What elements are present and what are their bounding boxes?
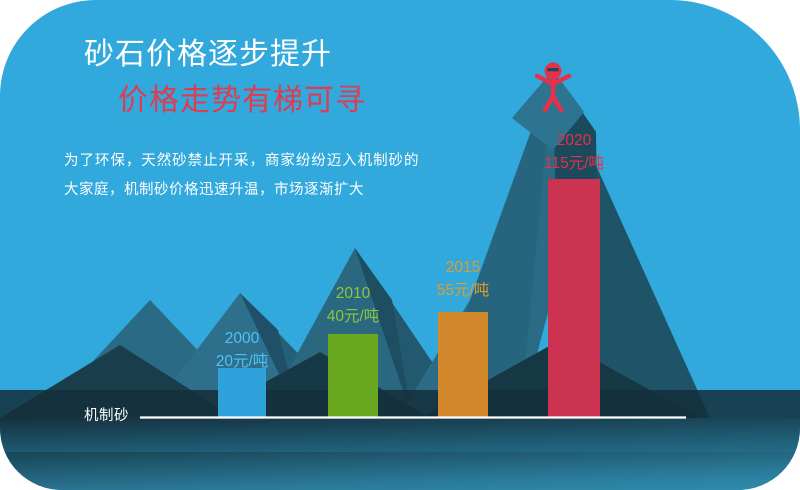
- infographic-canvas: 砂石价格逐步提升 价格走势有梯可寻 为了环保，天然砂禁止开采，商家纷纷迈入机制砂…: [0, 0, 800, 490]
- bar-price-2010: 40元/吨: [303, 305, 403, 328]
- bar-label-2015: 2015 55元/吨: [413, 256, 513, 302]
- bar-year-2000: 2000: [192, 327, 292, 350]
- bar-2015: [438, 312, 488, 418]
- bar-year-2020: 2020: [522, 129, 626, 152]
- person-visor: [547, 68, 559, 71]
- bar-2010: [328, 334, 378, 418]
- ground-band-overlay: [0, 452, 800, 490]
- bar-year-2015: 2015: [413, 256, 513, 279]
- bar-price-2020: 115元/吨: [522, 152, 626, 175]
- page-subtitle: 价格走势有梯可寻: [118, 86, 366, 116]
- bar-price-2000: 20元/吨: [192, 350, 292, 373]
- bar-label-2010: 2010 40元/吨: [303, 282, 403, 328]
- page-title: 砂石价格逐步提升: [84, 40, 332, 70]
- axis-label-manufactured-sand: 机制砂: [84, 404, 129, 425]
- bar-2000: [218, 368, 266, 418]
- body-paragraph: 为了环保，天然砂禁止开采，商家纷纷迈入机制砂的大家庭，机制砂价格迅速升温，市场逐…: [64, 147, 419, 205]
- bar-label-2020: 2020 115元/吨: [522, 129, 626, 175]
- bar-2020: [548, 179, 600, 418]
- bar-label-2000: 2000 20元/吨: [192, 327, 292, 373]
- bar-year-2010: 2010: [303, 282, 403, 305]
- bar-price-2015: 55元/吨: [413, 279, 513, 302]
